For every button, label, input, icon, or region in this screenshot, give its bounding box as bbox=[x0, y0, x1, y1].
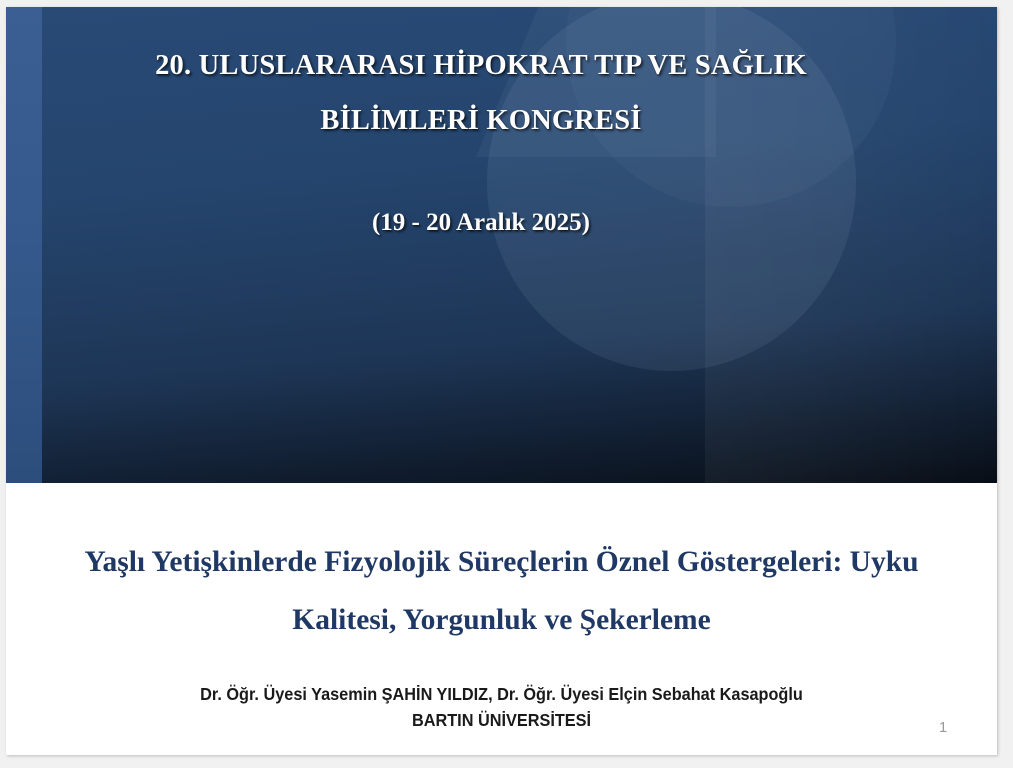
banner-text-group: 20. ULUSLARARASI HİPOKRAT TIP VE SAĞLIK … bbox=[6, 7, 997, 483]
presentation-title: Yaşlı Yetişkinlerde Fizyolojik Süreçleri… bbox=[28, 533, 975, 649]
slide-body: Yaşlı Yetişkinlerde Fizyolojik Süreçleri… bbox=[6, 483, 997, 755]
congress-dates: (19 - 20 Aralık 2025) bbox=[66, 209, 896, 237]
presentation-canvas: 20. ULUSLARARASI HİPOKRAT TIP VE SAĞLIK … bbox=[0, 0, 1013, 768]
author-names: Dr. Öğr. Üyesi Yasemin ŞAHİN YILDIZ, Dr.… bbox=[200, 684, 803, 704]
slide-1: 20. ULUSLARARASI HİPOKRAT TIP VE SAĞLIK … bbox=[6, 7, 997, 755]
title-banner: 20. ULUSLARARASI HİPOKRAT TIP VE SAĞLIK … bbox=[6, 7, 997, 483]
slide-number: 1 bbox=[914, 719, 972, 736]
affiliation: BARTIN ÜNİVERSİTESİ bbox=[78, 707, 925, 733]
author-block: Dr. Öğr. Üyesi Yasemin ŞAHİN YILDIZ, Dr.… bbox=[78, 681, 925, 733]
congress-title: 20. ULUSLARARASI HİPOKRAT TIP VE SAĞLIK … bbox=[66, 38, 896, 148]
